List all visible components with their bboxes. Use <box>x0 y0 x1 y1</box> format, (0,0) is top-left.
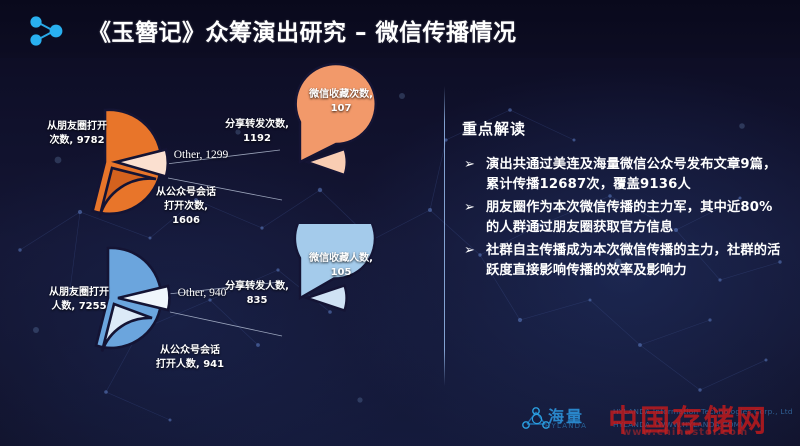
slide-root: 《玉簪记》众筹演出研究 – 微信传播情况 <box>0 0 800 446</box>
pie2-label-official-account: 从公众号会话 打开人数, 941 <box>130 344 250 372</box>
pie1-label-other: Other, 1299 <box>156 148 246 162</box>
pie2-label-shares: 分享转发人数, 835 <box>207 280 307 308</box>
pie1-label-shares: 分享转发次数, 1192 <box>207 118 307 146</box>
pie2-label-moments: 从朋友圈打开 人数, 7255 <box>24 286 134 314</box>
arrow-bullet-icon: ➢ <box>464 200 479 215</box>
list-item: ➢ 社群自主传播成为本次微信传播的主力，社群的活跃度直接影响传播的效率及影响力 <box>462 241 782 280</box>
pie1-secondary-slices <box>296 64 376 175</box>
network-nodes-icon <box>24 14 70 48</box>
analysis-panel-title: 重点解读 <box>462 118 782 139</box>
page-title: 《玉簪记》众筹演出研究 – 微信传播情况 <box>88 13 517 47</box>
list-item-text: 社群自主传播成为本次微信传播的主力，社群的活跃度直接影响传播的效率及影响力 <box>486 243 781 278</box>
charts-area: 从朋友圈打开 次数, 9782 Other, 1299 从公众号会话 打开次数,… <box>0 58 444 388</box>
list-item-text: 演出共通过美连及海量微信公众号发布文章9篇，累计传播12687次，覆盖9136人 <box>486 157 777 192</box>
watermark-url: www.chinastor.com <box>622 427 748 438</box>
footer-logo-en: HYLANDA <box>545 422 587 430</box>
pie2-label-favorites: 微信收藏人数, 105 <box>286 252 396 280</box>
pie1-label-favorites: 微信收藏次数, 107 <box>286 88 396 116</box>
list-item-text: 朋友圈作为本次微信传播的主力军，其中近80%的人群通过朋友圈获取官方信息 <box>486 200 773 235</box>
pie1-label-official-account: 从公众号会话 打开次数, 1606 <box>126 186 246 228</box>
list-item: ➢ 朋友圈作为本次微信传播的主力军，其中近80%的人群通过朋友圈获取官方信息 <box>462 198 782 237</box>
arrow-bullet-icon: ➢ <box>464 157 479 172</box>
analysis-panel: 重点解读 ➢ 演出共通过美连及海量微信公众号发布文章9篇，累计传播12687次，… <box>462 118 782 284</box>
list-item: ➢ 演出共通过美连及海量微信公众号发布文章9篇，累计传播12687次，覆盖913… <box>462 155 782 194</box>
pie1-label-moments: 从朋友圈打开 次数, 9782 <box>22 120 132 148</box>
arrow-bullet-icon: ➢ <box>464 243 479 258</box>
analysis-bullet-list: ➢ 演出共通过美连及海量微信公众号发布文章9篇，累计传播12687次，覆盖913… <box>462 155 782 280</box>
panel-divider <box>444 86 445 386</box>
